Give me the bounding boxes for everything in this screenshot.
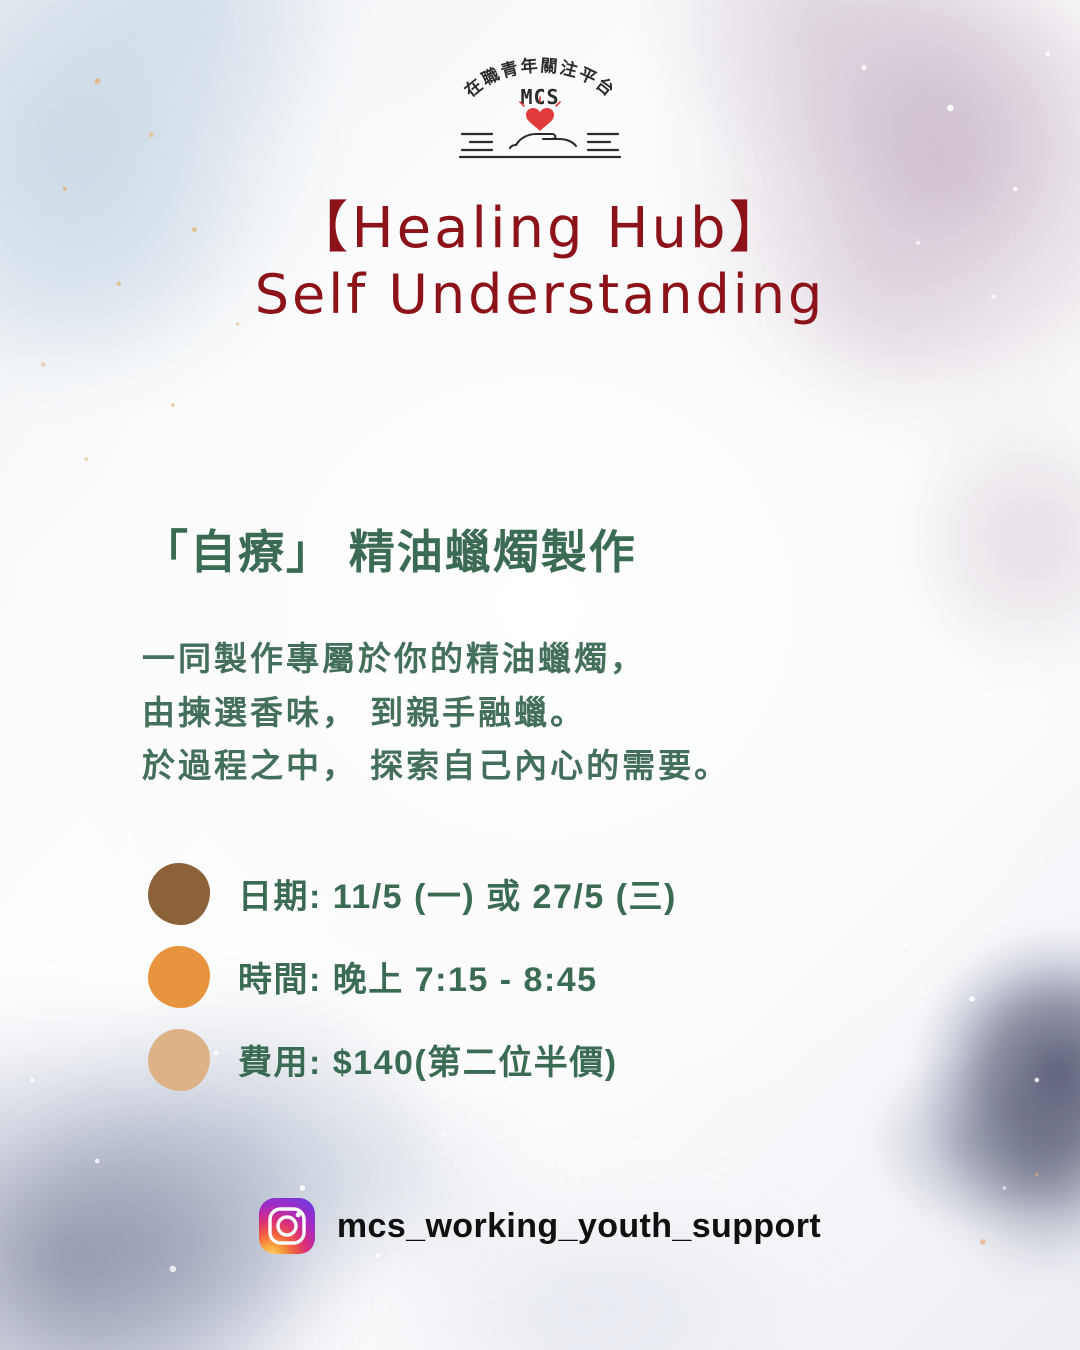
instagram-icon[interactable] — [259, 1198, 315, 1254]
logo-line-decor — [460, 134, 620, 157]
time-bullet-icon — [148, 946, 210, 1008]
detail-text-time: 時間: 晚上 7:15 - 8:45 — [238, 952, 598, 1001]
detail-text-fee: 費用: $140(第二位半價) — [238, 1035, 618, 1084]
fee-bullet-icon — [148, 1029, 210, 1091]
detail-list: 日期: 11/5 (一) 或 27/5 (三) 時間: 晚上 7:15 - 8:… — [148, 852, 1008, 1101]
detail-row-fee: 費用: $140(第二位半價) — [148, 1018, 1008, 1101]
date-bullet-icon — [148, 863, 210, 925]
detail-text-date: 日期: 11/5 (一) 或 27/5 (三) — [238, 869, 677, 918]
poster-title: 【Healing Hub】 Self Understanding — [0, 198, 1080, 325]
description-line-2: 由揀選香味， 到親手融蠟。 — [142, 686, 962, 739]
instagram-handle[interactable]: mcs_working_youth_support — [337, 1207, 821, 1246]
hand-holding-heart-icon — [510, 134, 576, 148]
description-line-3: 於過程之中， 探索自己內心的需要。 — [142, 739, 962, 792]
detail-row-date: 日期: 11/5 (一) 或 27/5 (三) — [148, 852, 1008, 935]
organization-logo: 在職青年關注平台 MCS — [440, 46, 640, 162]
poster-canvas: 在職青年關注平台 MCS — [0, 0, 1080, 1350]
main-content: 「自療」 精油蠟燭製作 一同製作專屬於你的精油蠟燭， 由揀選香味， 到親手融蠟。… — [142, 525, 962, 793]
description-line-1: 一同製作專屬於你的精油蠟燭， — [142, 632, 962, 685]
workshop-heading: 「自療」 精油蠟燭製作 — [142, 525, 962, 580]
detail-row-time: 時間: 晚上 7:15 - 8:45 — [148, 935, 1008, 1018]
social-footer: mcs_working_youth_support — [0, 1198, 1080, 1254]
title-line-1: 【Healing Hub】 — [0, 198, 1080, 261]
title-line-2: Self Understanding — [0, 265, 1080, 325]
workshop-description: 一同製作專屬於你的精油蠟燭， 由揀選香味， 到親手融蠟。 於過程之中， 探索自己… — [142, 632, 962, 792]
